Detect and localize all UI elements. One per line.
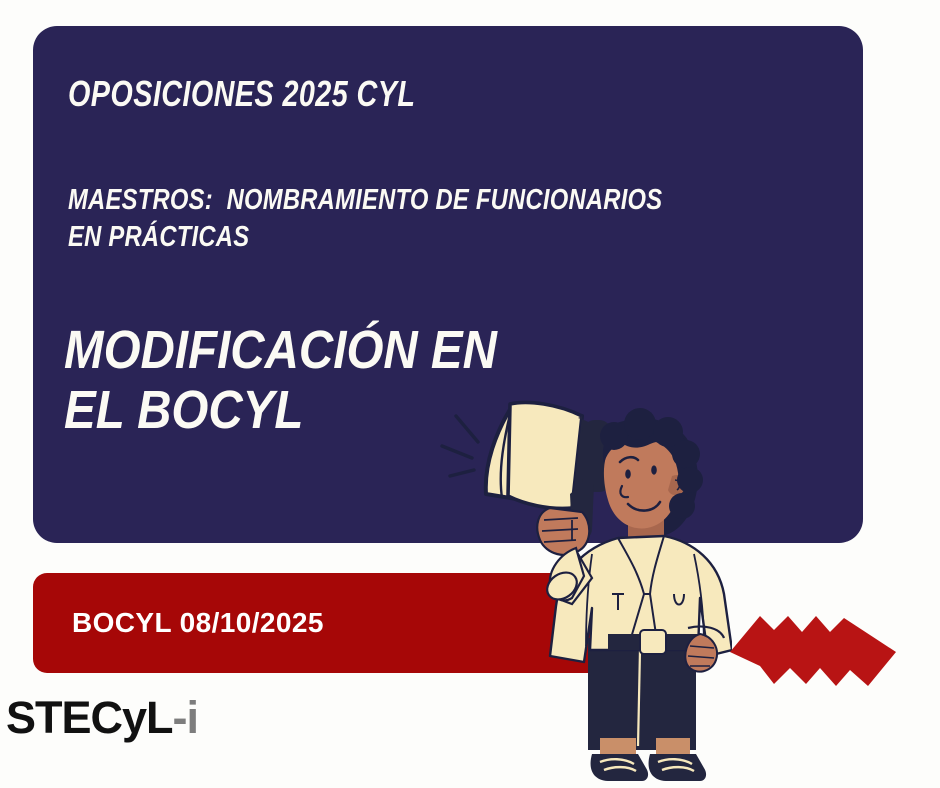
date-banner-label: BOCYL 08/10/2025 — [72, 607, 324, 639]
person-eye-right — [651, 465, 657, 474]
lightning-bolt-icon — [726, 608, 886, 680]
person-with-megaphone-illustration — [432, 398, 732, 788]
page-subtitle: MAESTROS: NOMBRAMIENTO DE FUNCIONARIOS E… — [68, 182, 662, 255]
logo-name-suffix: -i — [173, 692, 199, 743]
person-eye-left — [625, 469, 631, 478]
person-face — [604, 439, 679, 529]
person-hand-grip — [537, 508, 589, 555]
logo-name-primary: STECyL — [6, 692, 173, 743]
sound-lines-icon — [442, 416, 478, 476]
person-ankle-left — [600, 738, 636, 756]
stecyl-logo — [718, 608, 918, 758]
stecyl-logo-text: STECyL-i — [6, 692, 198, 744]
person-ankle-right — [656, 738, 690, 756]
page-kicker: OPOSICIONES 2025 CYL — [68, 73, 415, 115]
poster-canvas: OPOSICIONES 2025 CYL MAESTROS: NOMBRAMIE… — [0, 0, 940, 788]
person-sneakers — [591, 754, 707, 781]
